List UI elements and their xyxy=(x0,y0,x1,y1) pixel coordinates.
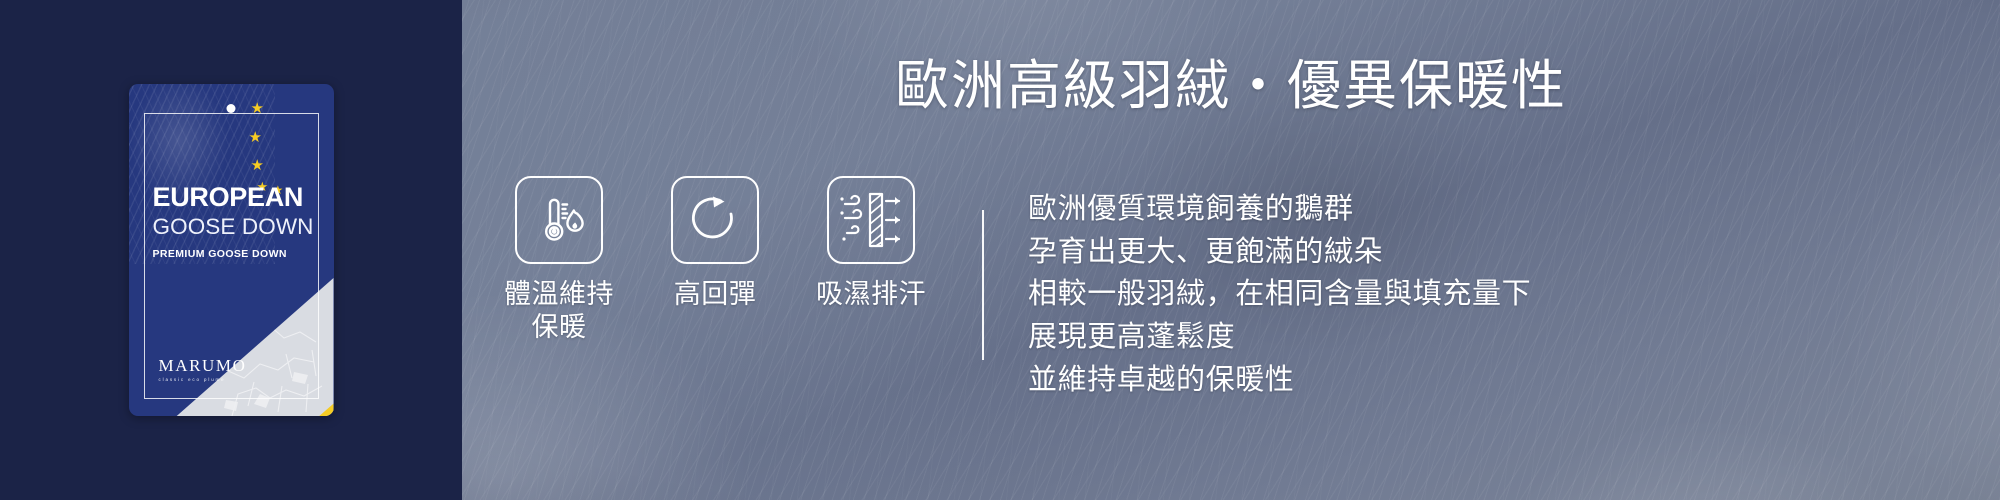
description-line: 並維持卓越的保暖性 xyxy=(1028,359,1531,402)
feature-temperature: 體溫維持 保暖 xyxy=(490,176,628,344)
right-content: 歐洲高級羽絨・優異保暖性 xyxy=(462,0,2000,500)
description-line: 相較一般羽絨，在相同含量與填充量下 xyxy=(1028,273,1531,316)
marumo-logo-name: MARUMO xyxy=(159,357,247,374)
feature-label-line2: 保暖 xyxy=(532,312,587,342)
feature-icon-group: 體溫維持 保暖 高回彈 xyxy=(490,168,940,344)
thermometer-flame-icon-box xyxy=(515,176,603,264)
eu-star-icon: ★ xyxy=(251,158,264,173)
rotate-arrow-icon-box xyxy=(671,176,759,264)
features-and-copy-row: 體溫維持 保暖 高回彈 xyxy=(462,168,2000,401)
vertical-divider xyxy=(982,210,984,360)
feature-label-line1: 體溫維持 xyxy=(504,279,614,309)
feature-wicking: 吸濕排汗 xyxy=(802,176,940,311)
description-text: 歐洲優質環境飼養的鵝群 孕育出更大、更飽滿的絨朵 相較一般羽絨，在相同含量與填充… xyxy=(1028,188,1531,401)
tag-tagline: PREMIUM GOOSE DOWN xyxy=(153,248,314,260)
rotate-arrow-icon xyxy=(686,191,744,249)
eu-star-icon: ★ xyxy=(249,130,262,145)
marumo-logo-tagline: classic eco plume xyxy=(159,377,247,382)
moisture-wicking-icon-box xyxy=(827,176,915,264)
description-line: 孕育出更大、更飽滿的絨朵 xyxy=(1028,231,1531,274)
left-navy-panel: ★ ★ ★ ★ ★ EUROPEAN GOOSE DOWN PREMIUM GO… xyxy=(0,0,462,500)
thermometer-flame-icon xyxy=(527,188,591,252)
page-title: 歐洲高級羽絨・優異保暖性 xyxy=(462,57,2000,116)
right-feather-photo-panel: 歐洲高級羽絨・優異保暖性 xyxy=(462,0,2000,500)
tag-punch-hole xyxy=(227,104,236,113)
product-feature-banner: ★ ★ ★ ★ ★ EUROPEAN GOOSE DOWN PREMIUM GO… xyxy=(0,0,2000,500)
eu-star-icon: ★ xyxy=(251,101,264,116)
feature-label-wicking: 吸濕排汗 xyxy=(816,278,926,311)
moisture-wicking-icon xyxy=(839,190,903,250)
tag-title-block: EUROPEAN GOOSE DOWN PREMIUM GOOSE DOWN xyxy=(153,184,314,260)
tag-title: EUROPEAN xyxy=(153,184,314,211)
feature-label-temperature: 體溫維持 保暖 xyxy=(504,278,614,344)
european-goose-down-hangtag: ★ ★ ★ ★ ★ EUROPEAN GOOSE DOWN PREMIUM GO… xyxy=(129,84,334,416)
marumo-logo: MARUMO classic eco plume xyxy=(159,357,247,382)
description-line: 展現更高蓬鬆度 xyxy=(1028,316,1531,359)
feature-label-resilience: 高回彈 xyxy=(674,278,757,311)
description-line: 歐洲優質環境飼養的鵝群 xyxy=(1028,188,1531,231)
feature-resilience: 高回彈 xyxy=(646,176,784,311)
tag-subtitle: GOOSE DOWN xyxy=(153,214,314,240)
